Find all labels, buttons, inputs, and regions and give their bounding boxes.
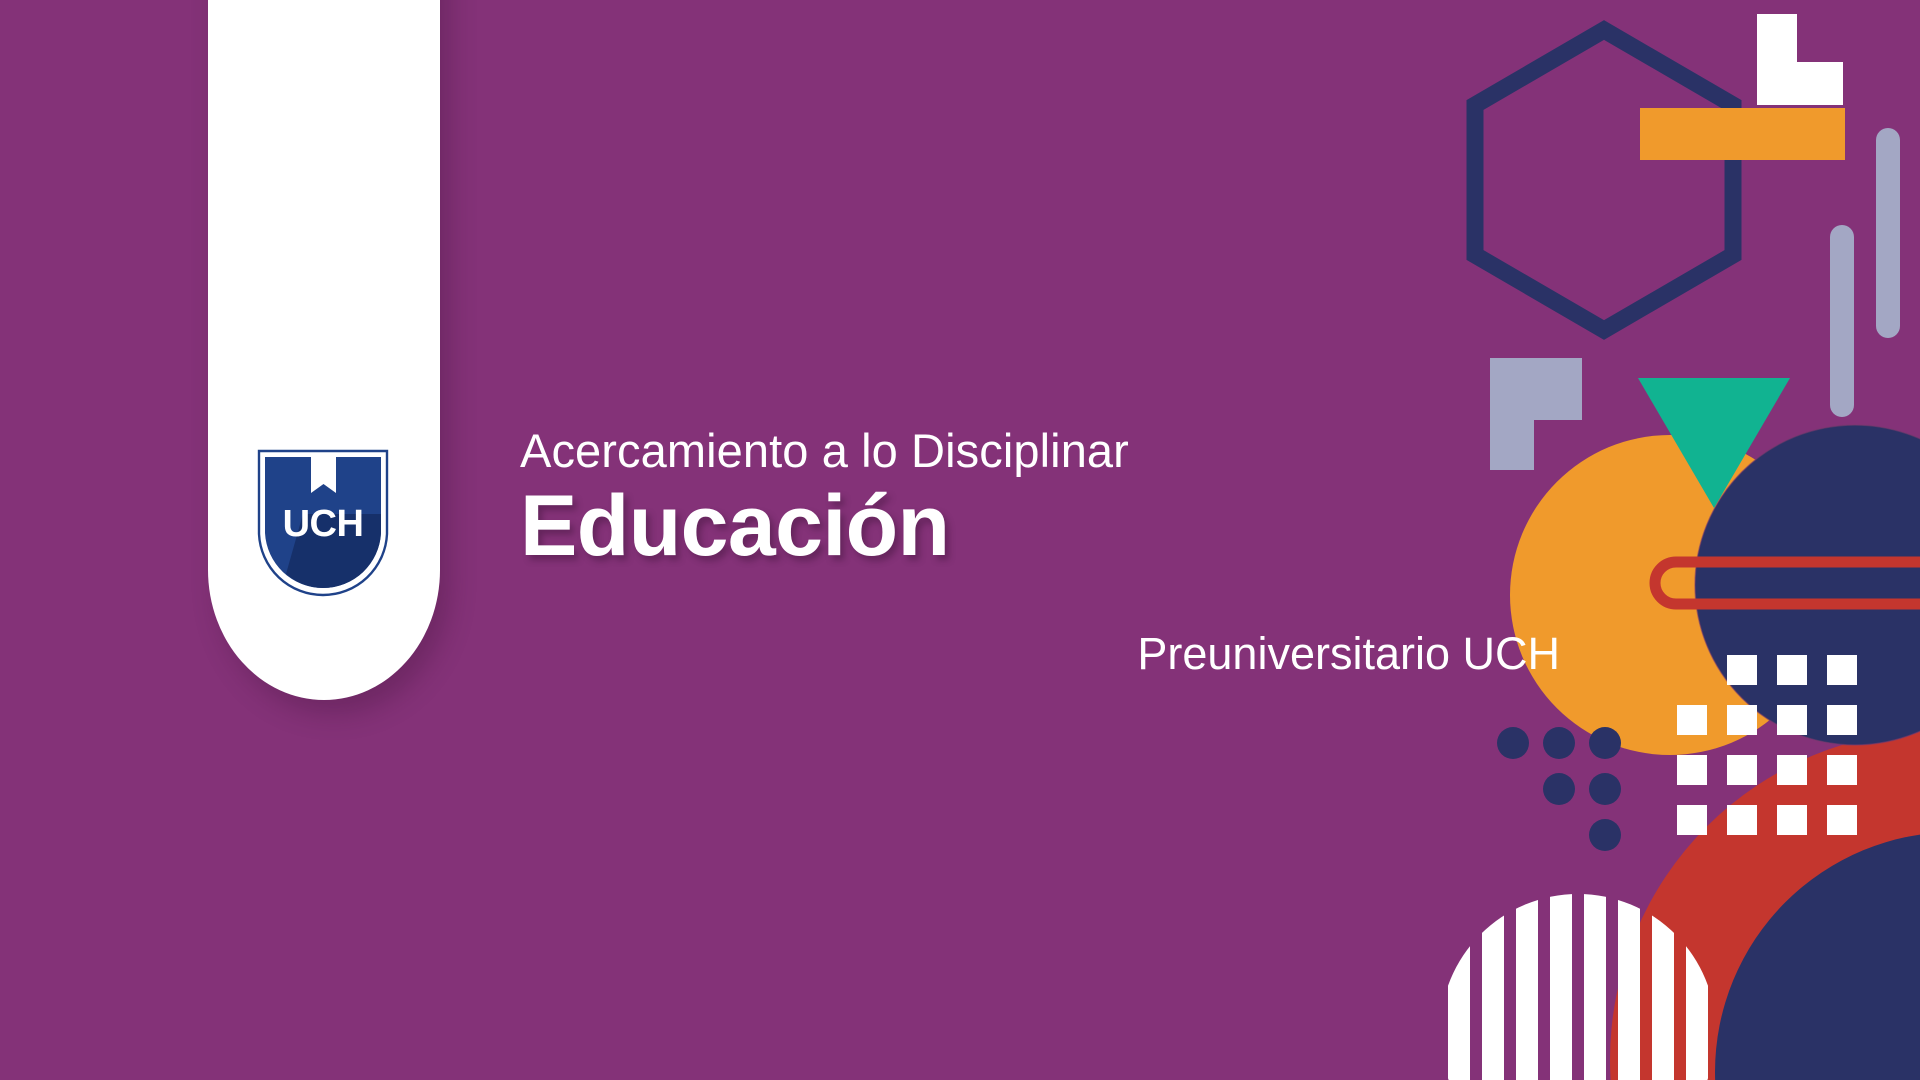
navy-dot-triangle [1497,727,1621,851]
uch-shield-logo: UCH [256,448,390,598]
gray-pill-tall [1876,128,1900,338]
subtitle-text: Preuniversitario UCH [520,628,1560,680]
white-l-shape [1757,14,1843,105]
page-title: Educación [520,480,1560,573]
orange-bar [1640,108,1845,160]
gray-pill-short [1830,225,1854,417]
eyebrow-text: Acercamiento a lo Disciplinar [520,424,1560,478]
shield-wordmark: UCH [283,503,364,545]
slide-canvas: UCH Acercamiento a lo Disciplinar Educac… [0,0,1920,1080]
title-block: Acercamiento a lo Disciplinar Educación [520,424,1560,572]
hexagon-outline [1475,30,1733,330]
